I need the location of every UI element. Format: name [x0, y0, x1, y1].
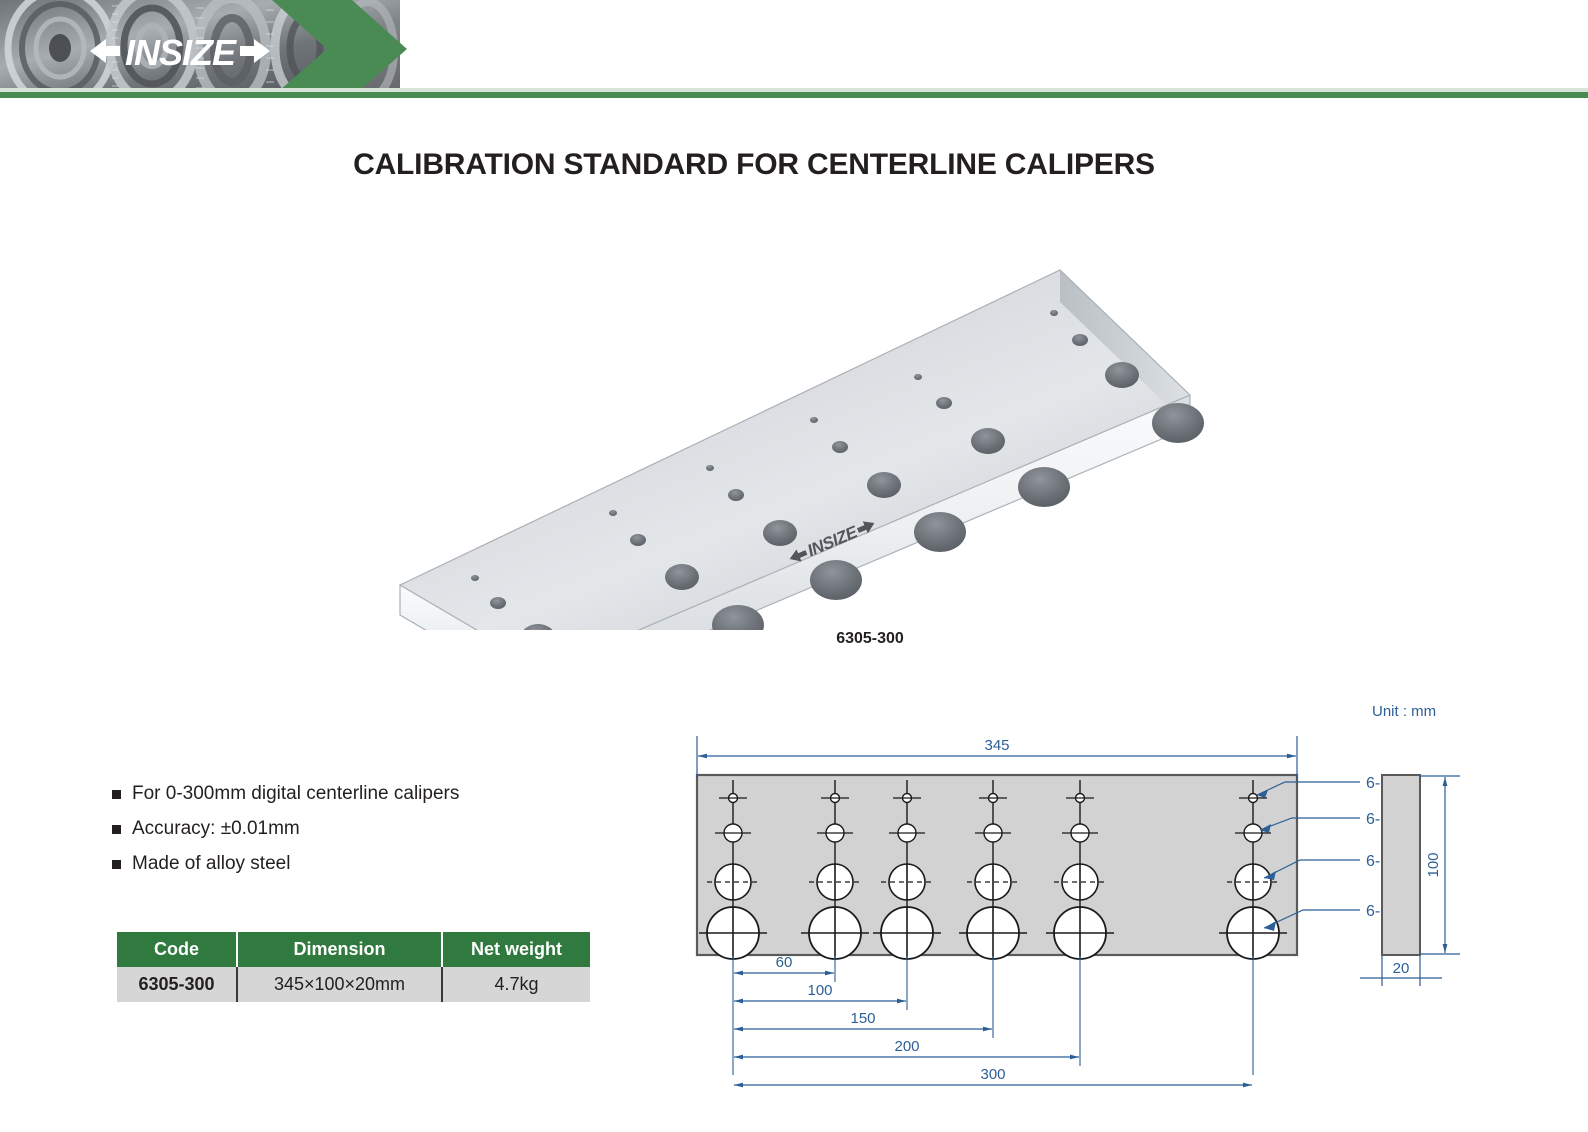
header-green-rule: [0, 92, 1588, 98]
bullet-square-icon: [112, 860, 121, 869]
dimension-100: 100: [734, 982, 906, 1001]
specification-table: Code Dimension Net weight 6305-300 345×1…: [117, 932, 590, 1002]
dimension-label-20-thickness: 20: [1393, 960, 1410, 977]
feature-text: Accuracy: ±0.01mm: [132, 817, 300, 841]
svg-text:INSIZE: INSIZE: [125, 32, 237, 73]
list-item: Accuracy: ±0.01mm: [112, 817, 632, 841]
column-header-code: Code: [117, 932, 237, 967]
table-header-row: Code Dimension Net weight: [117, 932, 590, 967]
dimension-label-100-height: 100: [1425, 852, 1442, 877]
dimension-label-200: 200: [894, 1038, 919, 1055]
feature-list: For 0-300mm digital centerline calipers …: [112, 782, 632, 886]
page-header: INSIZE: [0, 0, 1588, 97]
column-header-dimension: Dimension: [237, 932, 442, 967]
table-row: 6305-300 345×100×20mm 4.7kg: [117, 967, 590, 1002]
list-item: Made of alloy steel: [112, 852, 632, 876]
dimension-label-345: 345: [984, 737, 1009, 754]
bullet-square-icon: [112, 790, 121, 799]
technical-drawing: 345 6-Ø4 6-Ø8 6-Ø16 6-Ø24 100: [660, 690, 1520, 1090]
dimension-60: 60: [734, 954, 834, 973]
cell-dimension: 345×100×20mm: [237, 967, 442, 1002]
insize-logo-icon: INSIZE: [90, 27, 270, 75]
bullet-square-icon: [112, 825, 121, 834]
dimension-150: 150: [734, 1010, 992, 1029]
dimension-label-150: 150: [850, 1010, 875, 1027]
plate-side-view: [1382, 775, 1420, 955]
feature-text: For 0-300mm digital centerline calipers: [132, 782, 459, 806]
column-header-net-weight: Net weight: [442, 932, 590, 967]
product-caption: 6305-300: [700, 630, 1040, 648]
list-item: For 0-300mm digital centerline calipers: [112, 782, 632, 806]
dimension-300: 300: [734, 1066, 1252, 1085]
cell-net-weight: 4.7kg: [442, 967, 590, 1002]
dimension-label-60: 60: [776, 954, 793, 971]
product-image: INSIZE: [370, 255, 1220, 630]
header-green-chevron: [272, 0, 407, 97]
cell-code: 6305-300: [117, 967, 237, 1002]
dimension-label-100: 100: [807, 982, 832, 999]
page-title: CALIBRATION STANDARD FOR CENTERLINE CALI…: [0, 148, 1588, 182]
dimension-200: 200: [734, 1038, 1079, 1057]
feature-text: Made of alloy steel: [132, 852, 290, 876]
dimension-label-300: 300: [980, 1066, 1005, 1083]
